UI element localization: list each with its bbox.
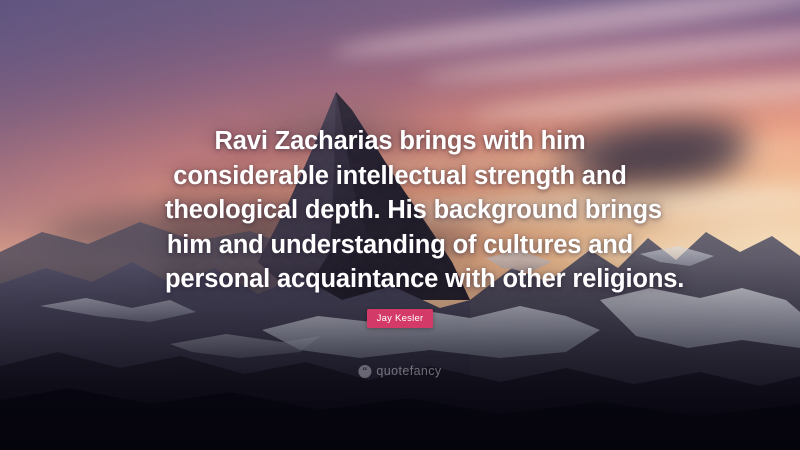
quote-mark-icon: “ [358, 365, 371, 378]
quotefancy-watermark[interactable]: “ quotefancy [358, 364, 441, 378]
author-badge[interactable]: Jay Kesler [367, 309, 434, 328]
poster-content: Ravi Zacharias brings with him considera… [0, 0, 800, 450]
quote-mark-glyph: “ [362, 367, 367, 377]
quote-poster: Ravi Zacharias brings with him considera… [0, 0, 800, 450]
quote-line-3: theological depth. His background brings [165, 193, 635, 228]
quote-line-5: personal acquaintance with other religio… [165, 262, 635, 297]
quote-line-1: Ravi Zacharias brings with him [165, 124, 635, 159]
quote-line-4: him and understanding of cultures and [165, 228, 635, 263]
quote-line-2: considerable intellectual strength and [165, 159, 635, 194]
quote-text: Ravi Zacharias brings with him considera… [165, 124, 635, 297]
watermark-brand-text: quotefancy [376, 364, 441, 378]
